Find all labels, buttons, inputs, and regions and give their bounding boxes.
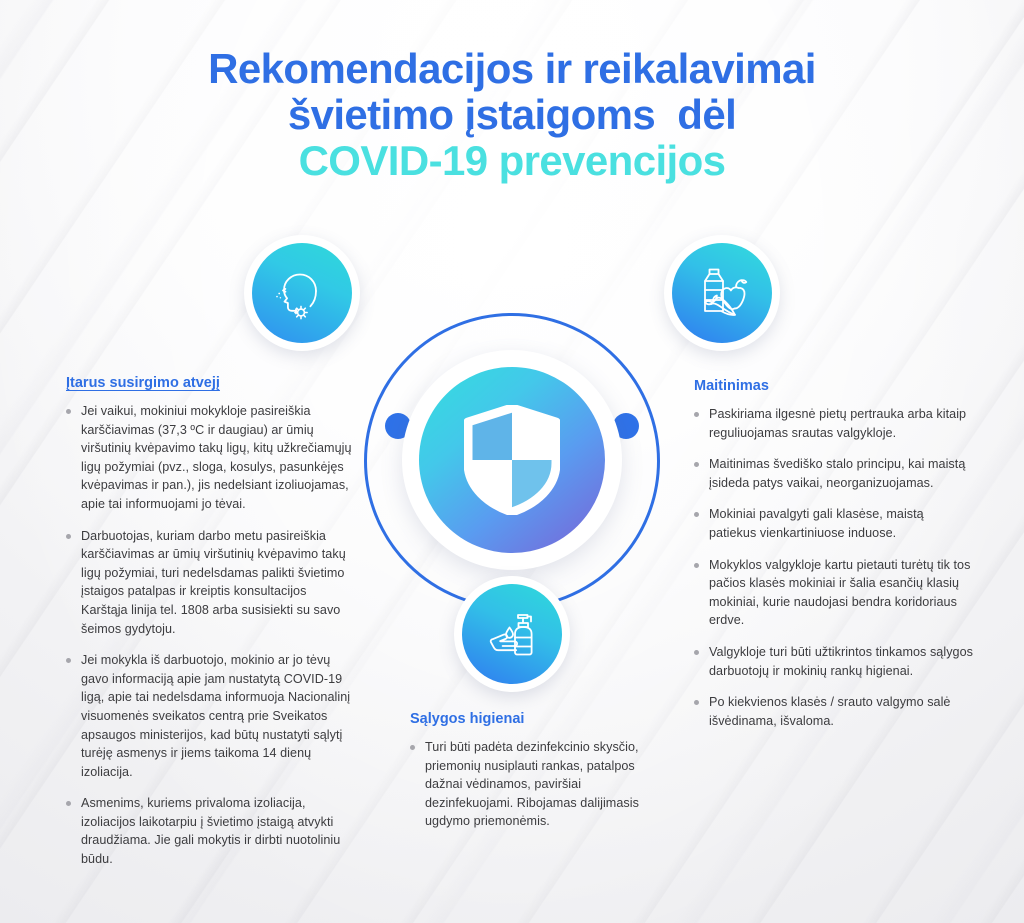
list-item: Po kiekvienos klasės / srauto valgymo sa… [694,693,974,730]
center-diagram [342,240,682,700]
node-symptoms-disc [252,243,352,343]
list-item: Jei vaikui, mokiniui mokykloje pasireišk… [66,402,352,514]
section-symptoms: Įtarus susirgimo atvejį Jei vaikui, moki… [66,375,352,882]
list-item: Turi būti padėta dezinfekcinio skysčio, … [410,738,662,831]
hand-sanitizer-icon [482,605,542,663]
list-item: Asmenims, kuriems privaloma izoliacija, … [66,794,352,868]
node-hygiene[interactable] [454,576,570,692]
section-hygiene-heading: Sąlygos higienai [410,711,662,727]
section-nutrition-list: Paskiriama ilgesnė pietų pertrauka arba … [694,405,974,730]
list-item: Mokyklos valgykloje kartu pietauti turėt… [694,556,974,630]
center-badge [402,350,622,570]
list-item: Jei mokykla iš darbuotojo, mokinio ar jo… [66,651,352,781]
node-symptoms[interactable] [244,235,360,351]
section-hygiene: Sąlygos higienai Turi būti padėta dezinf… [410,711,662,844]
page-title: Rekomendacijos ir reikalavimai švietimo … [0,46,1024,185]
node-nutrition-disc [672,243,772,343]
section-nutrition-heading: Maitinimas [694,378,974,394]
title-line-3: COVID-19 prevencijos [0,138,1024,184]
center-gradient-disc [419,367,605,553]
title-line-1: Rekomendacijos ir reikalavimai [0,46,1024,92]
list-item: Valgykloje turi būti užtikrintos tinkamo… [694,643,974,680]
infographic-page: Rekomendacijos ir reikalavimai švietimo … [0,0,1024,923]
shield-icon [464,405,560,515]
node-nutrition[interactable] [664,235,780,351]
section-nutrition: Maitinimas Paskiriama ilgesnė pietų pert… [694,378,974,743]
head-sneeze-icon [272,263,332,323]
list-item: Darbuotojas, kuriam darbo metu pasireišk… [66,527,352,639]
title-line-2: švietimo įstaigoms dėl [0,92,1024,138]
milk-apple-carrot-icon [691,264,753,322]
list-item: Maitinimas švediško stalo principu, kai … [694,455,974,492]
list-item: Paskiriama ilgesnė pietų pertrauka arba … [694,405,974,442]
node-hygiene-disc [462,584,562,684]
section-symptoms-heading: Įtarus susirgimo atvejį [66,375,352,391]
list-item: Mokiniai pavalgyti gali klasėse, maistą … [694,505,974,542]
section-hygiene-list: Turi būti padėta dezinfekcinio skysčio, … [410,738,662,831]
section-symptoms-list: Jei vaikui, mokiniui mokykloje pasireišk… [66,402,352,869]
